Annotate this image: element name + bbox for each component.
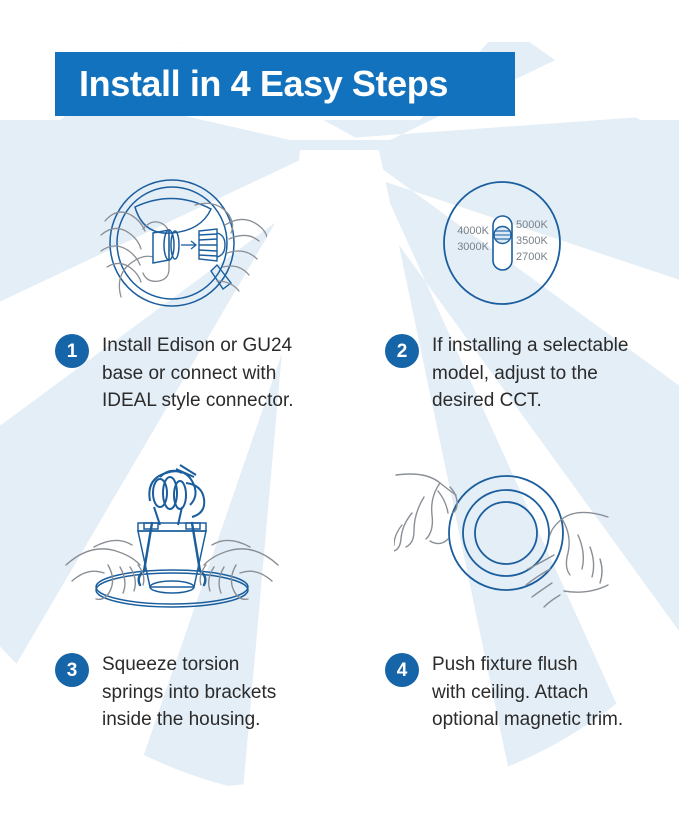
step-4-caption: 4 Push fixture flush with ceiling. Attac… <box>352 651 652 734</box>
step-4-text: Push fixture flush with ceiling. Attach … <box>432 651 623 734</box>
step-1-line-1: Install Edison or GU24 <box>102 332 294 360</box>
step-4-illustration <box>352 450 652 625</box>
step-2-line-3: desired CCT. <box>432 387 628 415</box>
step-1-illustration <box>22 168 322 318</box>
step-2-line-1: If installing a selectable <box>432 332 628 360</box>
cct-left-label-2: 3000K <box>457 241 489 253</box>
step-2-text: If installing a selectable model, adjust… <box>432 332 628 415</box>
step-2-illustration: 4000K 3000K 5000K 3500K 2700K <box>352 168 652 318</box>
cct-right-label-3: 2700K <box>516 251 548 263</box>
hands-squeezing-torsion-springs-icon <box>64 453 280 623</box>
step-4-line-2: with ceiling. Attach <box>432 679 623 707</box>
step-1-badge: 1 <box>55 334 89 368</box>
step-1-text: Install Edison or GU24 base or connect w… <box>102 332 294 415</box>
cct-right-label-2: 3500K <box>516 235 548 247</box>
step-3-badge: 3 <box>55 653 89 687</box>
step-4-badge: 4 <box>385 653 419 687</box>
step-2-line-2: model, adjust to the <box>432 360 628 388</box>
step-3-caption: 3 Squeeze torsion springs into brackets … <box>22 651 322 734</box>
step-2-badge: 2 <box>385 334 419 368</box>
step-3-line-3: inside the housing. <box>102 706 276 734</box>
install-steps-infographic: Install in 4 Easy Steps <box>0 0 679 824</box>
step-2: 4000K 3000K 5000K 3500K 2700K 2 If insta… <box>352 168 652 415</box>
cct-right-label-1: 5000K <box>516 219 548 231</box>
step-4-line-3: optional magnetic trim. <box>432 706 623 734</box>
page-title: Install in 4 Easy Steps <box>55 66 448 102</box>
header-banner: Install in 4 Easy Steps <box>55 52 515 116</box>
step-3-line-1: Squeeze torsion <box>102 651 276 679</box>
hands-pushing-trim-to-ceiling-icon <box>394 453 610 623</box>
step-4: 4 Push fixture flush with ceiling. Attac… <box>352 450 652 734</box>
step-3-illustration <box>22 450 322 625</box>
step-1: 1 Install Edison or GU24 base or connect… <box>22 168 322 415</box>
step-2-caption: 2 If installing a selectable model, adju… <box>352 332 652 415</box>
cct-left-label-1: 4000K <box>457 225 489 237</box>
hands-connecting-edison-base-icon <box>77 169 267 317</box>
step-3: 3 Squeeze torsion springs into brackets … <box>22 450 322 734</box>
step-4-line-1: Push fixture flush <box>432 651 623 679</box>
cct-selector-switch-icon: 4000K 3000K 5000K 3500K 2700K <box>427 172 577 314</box>
step-1-line-2: base or connect with <box>102 360 294 388</box>
step-1-caption: 1 Install Edison or GU24 base or connect… <box>22 332 322 415</box>
step-3-line-2: springs into brackets <box>102 679 276 707</box>
step-1-line-3: IDEAL style connector. <box>102 387 294 415</box>
step-3-text: Squeeze torsion springs into brackets in… <box>102 651 276 734</box>
